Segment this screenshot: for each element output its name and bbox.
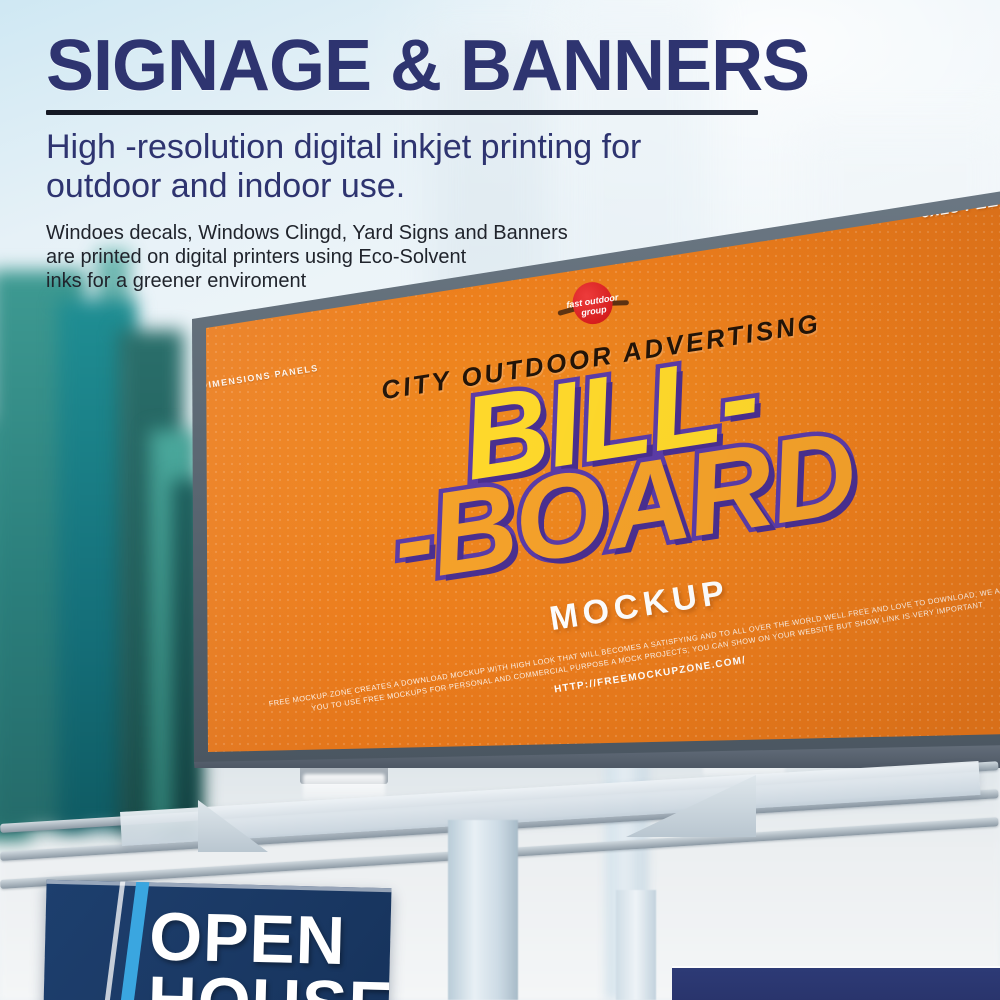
open-house-sign: OPEN HOUSE xyxy=(43,880,391,1000)
poster-canvas: SIGNAGE & BANNERS High -resolution digit… xyxy=(0,0,1000,1000)
title-underline xyxy=(46,110,758,115)
billboard: DIMENSIONS PANELS SIZE: 6x13 FEET fast o… xyxy=(180,180,1000,800)
page-title: SIGNAGE & BANNERS xyxy=(46,28,806,104)
open-house-line-2: HOUSE xyxy=(147,968,392,1000)
bottom-right-panel xyxy=(672,968,1000,1000)
billboard-secondary-pole xyxy=(616,890,656,1000)
open-house-text: OPEN HOUSE xyxy=(147,904,392,1000)
billboard-gloss xyxy=(180,180,1000,780)
billboard-main-pole xyxy=(448,820,518,1000)
subtitle-line-1: High -resolution digital inkjet printing… xyxy=(46,128,806,167)
billboard-face: DIMENSIONS PANELS SIZE: 6x13 FEET fast o… xyxy=(180,180,1000,780)
